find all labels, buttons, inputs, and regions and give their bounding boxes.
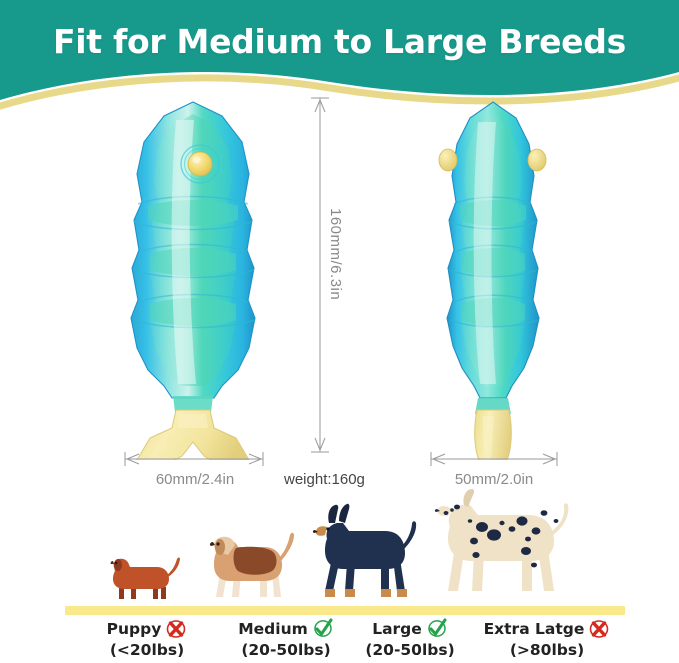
size-label-puppy-text: Puppy	[107, 620, 162, 638]
toy-bands	[148, 200, 238, 326]
size-label-extra-large: Extra Latge (>80lbs)	[452, 618, 642, 659]
toy-eye-nub-left	[439, 149, 457, 171]
dog-dalmatian	[410, 483, 580, 606]
size-label-extra-large-weight: (>80lbs)	[452, 641, 642, 659]
size-label-row: Puppy (<20lbs) Medium	[0, 618, 679, 663]
toy-bands	[460, 200, 526, 326]
toy-tail-highlight	[178, 414, 208, 428]
cross-icon	[165, 618, 187, 640]
page-title: Fit for Medium to Large Breeds	[0, 22, 679, 61]
infographic-root: Fit for Medium to Large Breeds	[0, 0, 679, 663]
weight-label: weight:160g	[284, 471, 365, 488]
check-icon	[426, 618, 448, 640]
size-label-large-text: Large	[372, 620, 422, 638]
product-dimensions-section: 160mm/6.3in	[0, 90, 679, 500]
size-label-medium-text: Medium	[238, 620, 308, 638]
toy-eye-nub-right	[528, 149, 546, 171]
cross-icon	[588, 618, 610, 640]
left-width-dimension-label: 60mm/2.4in	[125, 471, 265, 488]
dog-dachshund	[95, 545, 183, 606]
height-dimension-label: 160mm/6.3in	[327, 208, 344, 300]
fish-toy-side-view	[434, 98, 552, 460]
size-label-extra-large-text: Extra Latge	[484, 620, 585, 638]
dog-size-illustrations	[0, 498, 679, 616]
fish-toy-front-view	[118, 98, 268, 460]
dog-beagle	[190, 521, 302, 606]
ground-bar	[65, 606, 625, 615]
dog-doberman	[295, 501, 420, 606]
